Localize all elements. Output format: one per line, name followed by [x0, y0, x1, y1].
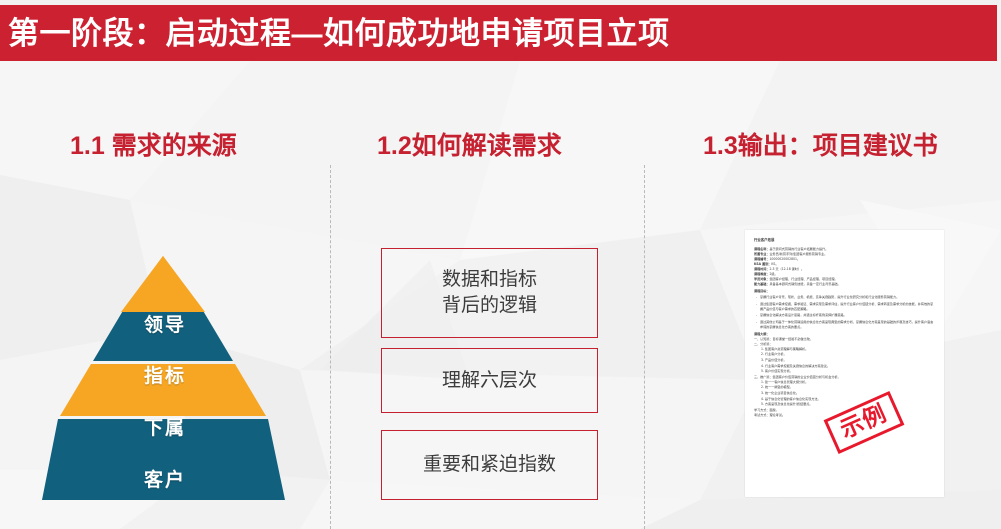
document-outline-sub-1-item-5: 5. 客户价值实现分析。: [761, 369, 935, 374]
pyramid-level-3-label: 下属: [40, 413, 290, 440]
pyramid-level-1-label: 领导: [40, 310, 290, 337]
document-field-label-8: 能力基础：: [754, 282, 769, 286]
document-outline-sub-2-item-4: 4. 基于信息化管理的客户信息化实现方法。: [761, 397, 935, 402]
document-outline-sub-1-item-2: 2. 行业客户分析。: [761, 352, 935, 357]
column-heading-3: 1.3输出：项目建议书: [703, 133, 938, 161]
pyramid-level-4-label: 客户: [40, 465, 290, 492]
column-heading-1: 1.1 需求的来源: [70, 133, 237, 161]
document-field-value-3: 10000020002801。: [769, 257, 800, 261]
pyramid-apex-fill: [121, 256, 205, 312]
document-objective-4: 通过其他公司基于一体化营销运用的信息化方案呈现典型的需求分析，掌握信息化方案呈现…: [760, 320, 935, 330]
middle-box-2: 理解六层次: [381, 348, 598, 413]
middle-box-1: 数据和指标 背后的逻辑: [381, 248, 598, 338]
pyramid-level-2-label: 指标: [40, 361, 290, 388]
document-field-label-7: 学员对象：: [754, 277, 769, 281]
document-objective-3: 掌握信息化解决方案设计思路，并通过标杆案例演绎扩展思路。: [760, 313, 935, 318]
middle-box-3: 重要和紧迫指数: [381, 430, 598, 500]
middle-box-3-text: 重要和紧迫指数: [423, 452, 556, 478]
document-field-value-5: 2-3 天（12-18 课时）。: [769, 267, 804, 271]
document-field-value-7: 集团客户经理、行业经理、产品经理、项目经理。: [769, 277, 837, 281]
middle-box-2-text: 理解六层次: [442, 368, 537, 394]
document-field-label-1: 课程名称：: [754, 247, 769, 251]
document-objectives: 掌握行业客户背景、现状、业务、机能、竞争关键趋势，提升行业化研究分析和行业化服务…: [754, 295, 935, 330]
title-banner: 第一阶段：启动过程—如何成功地申请项目立项: [0, 5, 997, 61]
document-outline-sub-2-item-5: 5. 方案呈现及信息化提升/终结要点。: [761, 402, 935, 407]
document-body: 行业客户拓展 课程名称：基于顾问式营销的行业客户拓展能力提升。 所属专业：业务员…: [745, 230, 944, 497]
document-field-value-1: 基于顾问式营销的行业客户拓展能力提升。: [769, 247, 828, 251]
slide-canvas: 第一阶段：启动过程—如何成功地申请项目立项 1.1 需求的来源 1.2如何解读需…: [0, 0, 1001, 529]
document-outline-sub-1-item-4: 4. 行业客户需求挖掘及关键信息的解决方案建议。: [761, 364, 935, 369]
document-objective-2: 通过集团客户需求挖掘、需求验证、需求实现及需求评估，提升行业客户价值链分析、需求…: [760, 302, 935, 312]
document-field-label-2: 所属专业：: [754, 252, 769, 256]
document-field-label-6: 课程难度：: [754, 272, 769, 276]
document-field-label-4: KSA 属别：: [754, 262, 771, 266]
middle-box-1-text: 数据和指标 背后的逻辑: [442, 267, 537, 318]
document-outline-sub-2: 1. 建一一客户信息管理大纲分析。 2. 统一一牌变的模型。 3. 统一化企业项…: [761, 380, 935, 407]
document-outline-sub-2-item-3: 3. 统一化企业项目信息化。: [761, 391, 935, 396]
document-field-label-5: 课程时间：: [754, 267, 769, 271]
page-title: 第一阶段：启动过程—如何成功地申请项目立项: [8, 18, 670, 49]
document-preview: 行业客户拓展 课程名称：基于顾问式营销的行业客户拓展能力提升。 所属专业：业务员…: [745, 230, 944, 497]
column-heading-2: 1.2如何解读需求: [377, 133, 562, 161]
column-divider-1: [330, 165, 331, 529]
document-field-value-6: 2级。: [769, 272, 777, 276]
pyramid-diagram: 领导 指标 下属 客户: [40, 250, 290, 506]
document-objective-1: 掌握行业客户背景、现状、业务、机能、竞争关键趋势，提升行业化研究分析和行业化服务…: [760, 295, 935, 300]
document-outline-sub-1-item-1: 1. 集团客户资源理解与策略解析。: [761, 347, 935, 352]
document-field-value-8: 具备基本顾问式销售技能，具备一定行业背景基础。: [769, 282, 840, 286]
document-field-value-2: 业务员/新营手列/集团客户服务营销专业。: [769, 252, 827, 256]
document-field-value-4: KS。: [771, 262, 778, 266]
document-field-label-3: 课程编号：: [754, 257, 769, 261]
column-divider-2: [644, 165, 645, 529]
document-title: 行业客户拓展: [754, 238, 935, 244]
document-outline-sub-1-item-3: 3. 产品价值分析。: [761, 358, 935, 363]
document-field-label-9: 课程目标：: [754, 289, 935, 294]
document-outline-sub-2-item-2: 2. 统一一牌变的模型。: [761, 385, 935, 390]
document-outline-sub-1: 1. 集团客户资源理解与策略解析。 2. 行业客户分析。 3. 产品价值分析。 …: [761, 347, 935, 374]
